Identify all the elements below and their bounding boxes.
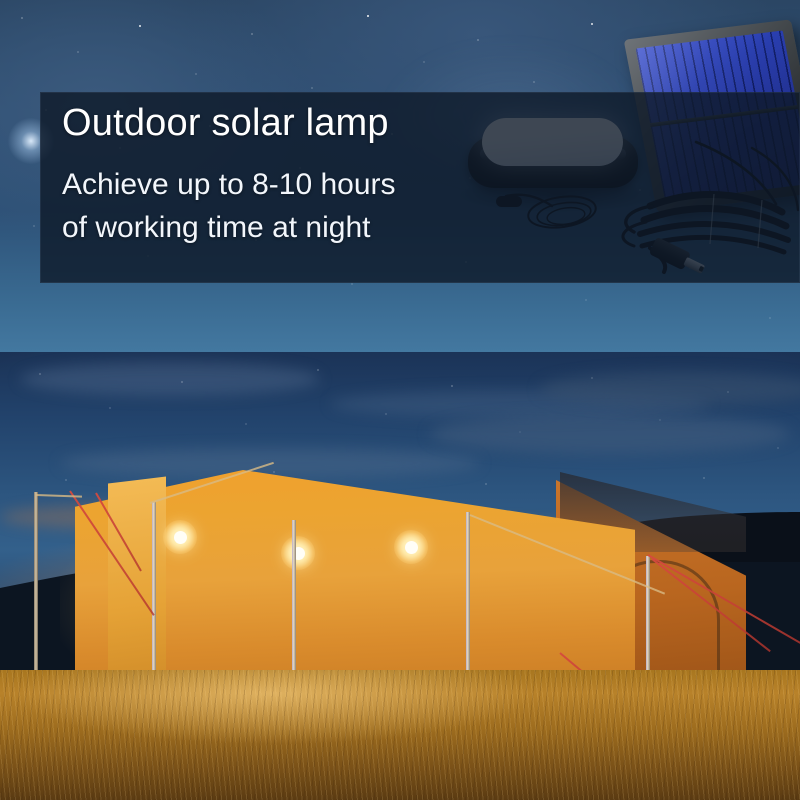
subtitle-block: Achieve up to 8-10 hours of working time…: [62, 164, 396, 249]
string-light-bulb-core: [405, 541, 418, 554]
string-light-bulb-core: [174, 531, 187, 544]
camp-ground-grass: [0, 670, 800, 800]
cloud: [430, 414, 790, 454]
page-title: Outdoor solar lamp: [62, 100, 389, 148]
headline-banner: Outdoor solar lamp Achieve up to 8-10 ho…: [40, 92, 800, 283]
night-camping-photo: [0, 352, 800, 800]
poster-canvas: Outdoor solar lamp Achieve up to 8-10 ho…: [0, 0, 800, 800]
cloud: [20, 362, 320, 396]
cloud: [540, 372, 800, 406]
subtitle-line-1: Achieve up to 8-10 hours: [62, 164, 396, 207]
subtitle-line-2: of working time at night: [62, 207, 396, 250]
grass-texture: [0, 670, 800, 800]
